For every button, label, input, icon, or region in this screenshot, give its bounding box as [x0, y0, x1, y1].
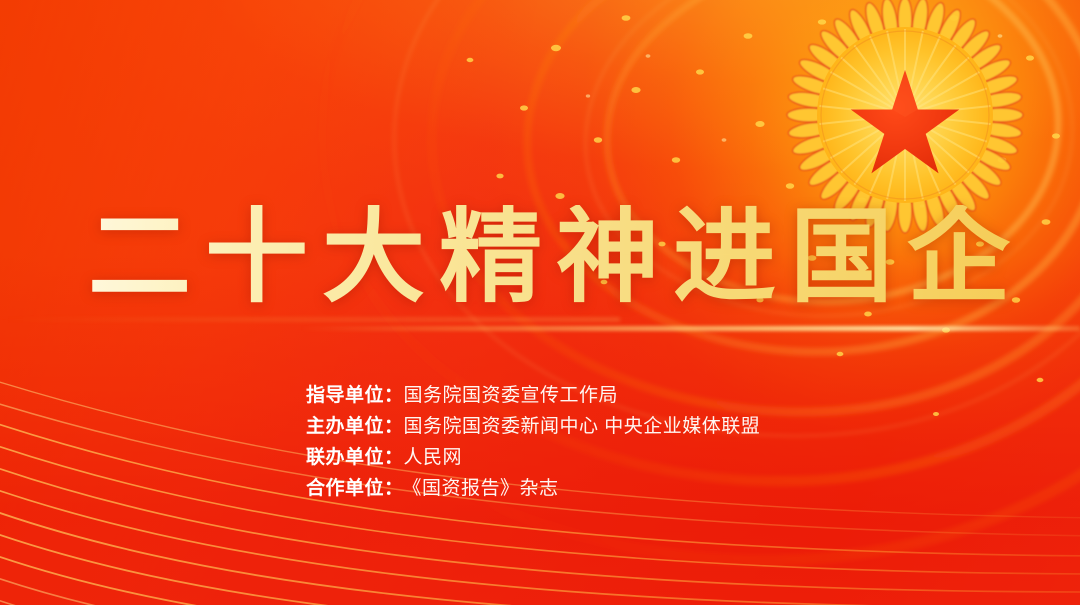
credit-row: 联办单位： 人民网	[306, 445, 760, 471]
credits-block: 指导单位： 国务院国资委宣传工作局 主办单位： 国务院国资委新闻中心 中央企业媒…	[306, 383, 760, 502]
credit-row: 合作单位： 《国资报告》杂志	[306, 476, 760, 502]
credit-label-guidance: 指导单位：	[306, 383, 404, 409]
credit-row: 主办单位： 国务院国资委新闻中心 中央企业媒体联盟	[306, 414, 760, 440]
credit-value-coorganizer: 人民网	[404, 445, 463, 471]
poster-title-text: 二十大精神进国企	[88, 205, 1024, 308]
credit-label-organizer: 主办单位：	[306, 414, 404, 440]
credit-row: 指导单位： 国务院国资委宣传工作局	[306, 383, 760, 409]
credit-label-coorganizer: 联办单位：	[306, 445, 404, 471]
credit-value-guidance: 国务院国资委宣传工作局	[404, 383, 619, 409]
poster-title: 二十大精神进国企	[88, 196, 1008, 316]
credit-value-partner: 《国资报告》杂志	[403, 476, 559, 502]
credit-value-organizer: 国务院国资委新闻中心 中央企业媒体联盟	[404, 414, 761, 440]
poster-banner: 二十大精神进国企 指导单位： 国务院国资委宣传工作局 主办单位： 国务院国资委新…	[0, 0, 1080, 605]
credit-label-partner: 合作单位：	[306, 476, 404, 502]
